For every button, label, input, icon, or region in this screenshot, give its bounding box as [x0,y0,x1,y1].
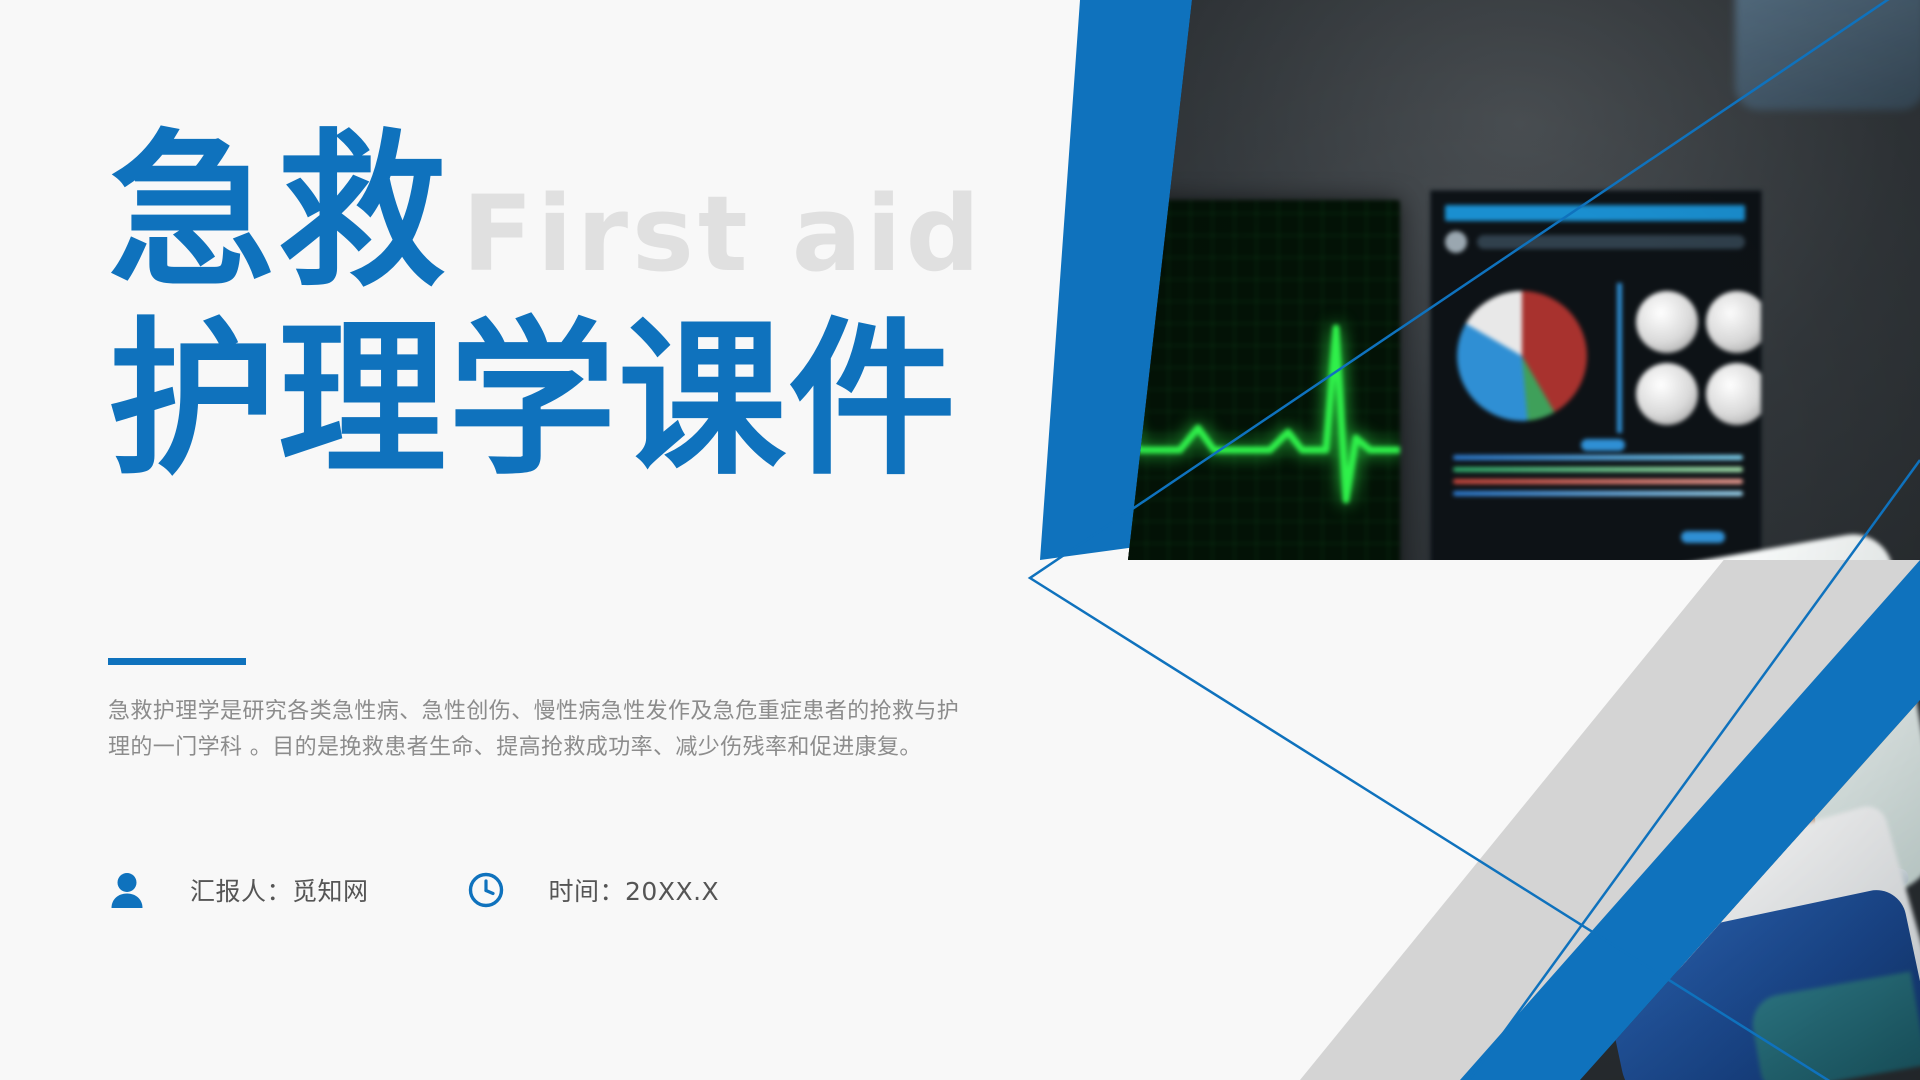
presenter-meta-item: 汇报人：觅知网 [108,862,369,918]
title-line-1: 急救 First aid [108,128,984,308]
accent-divider-bar [108,658,246,665]
title-line-2: 护理学课件 [108,316,958,484]
page-title-cn-primary: 急救 [108,128,448,296]
cover-description: 急救护理学是研究各类急性病、急性创伤、慢性病急性发作及急危重症患者的抢救与护理的… [108,694,978,765]
presentation-cover-slide: 急救 First aid 护理学课件 急救护理学是研究各类急性病、急性创伤、慢性… [0,0,1920,1080]
presenter-label: 汇报人：觅知网 [190,872,369,908]
date-meta-item: 时间：20XX.X [467,862,720,918]
chevron-outline-strokes [920,0,1920,1080]
cover-meta-row: 汇报人：觅知网 时间：20XX.X [108,862,719,918]
cover-text-column: 急救 First aid 护理学课件 急救护理学是研究各类急性病、急性创伤、慢性… [108,0,948,1080]
date-label: 时间：20XX.X [549,872,720,908]
page-title-en: First aid [462,182,984,286]
clock-icon [467,871,505,909]
page-title-cn-secondary: 护理学课件 [108,302,958,498]
person-icon [108,871,146,909]
right-chevron-graphic [920,0,1920,1080]
